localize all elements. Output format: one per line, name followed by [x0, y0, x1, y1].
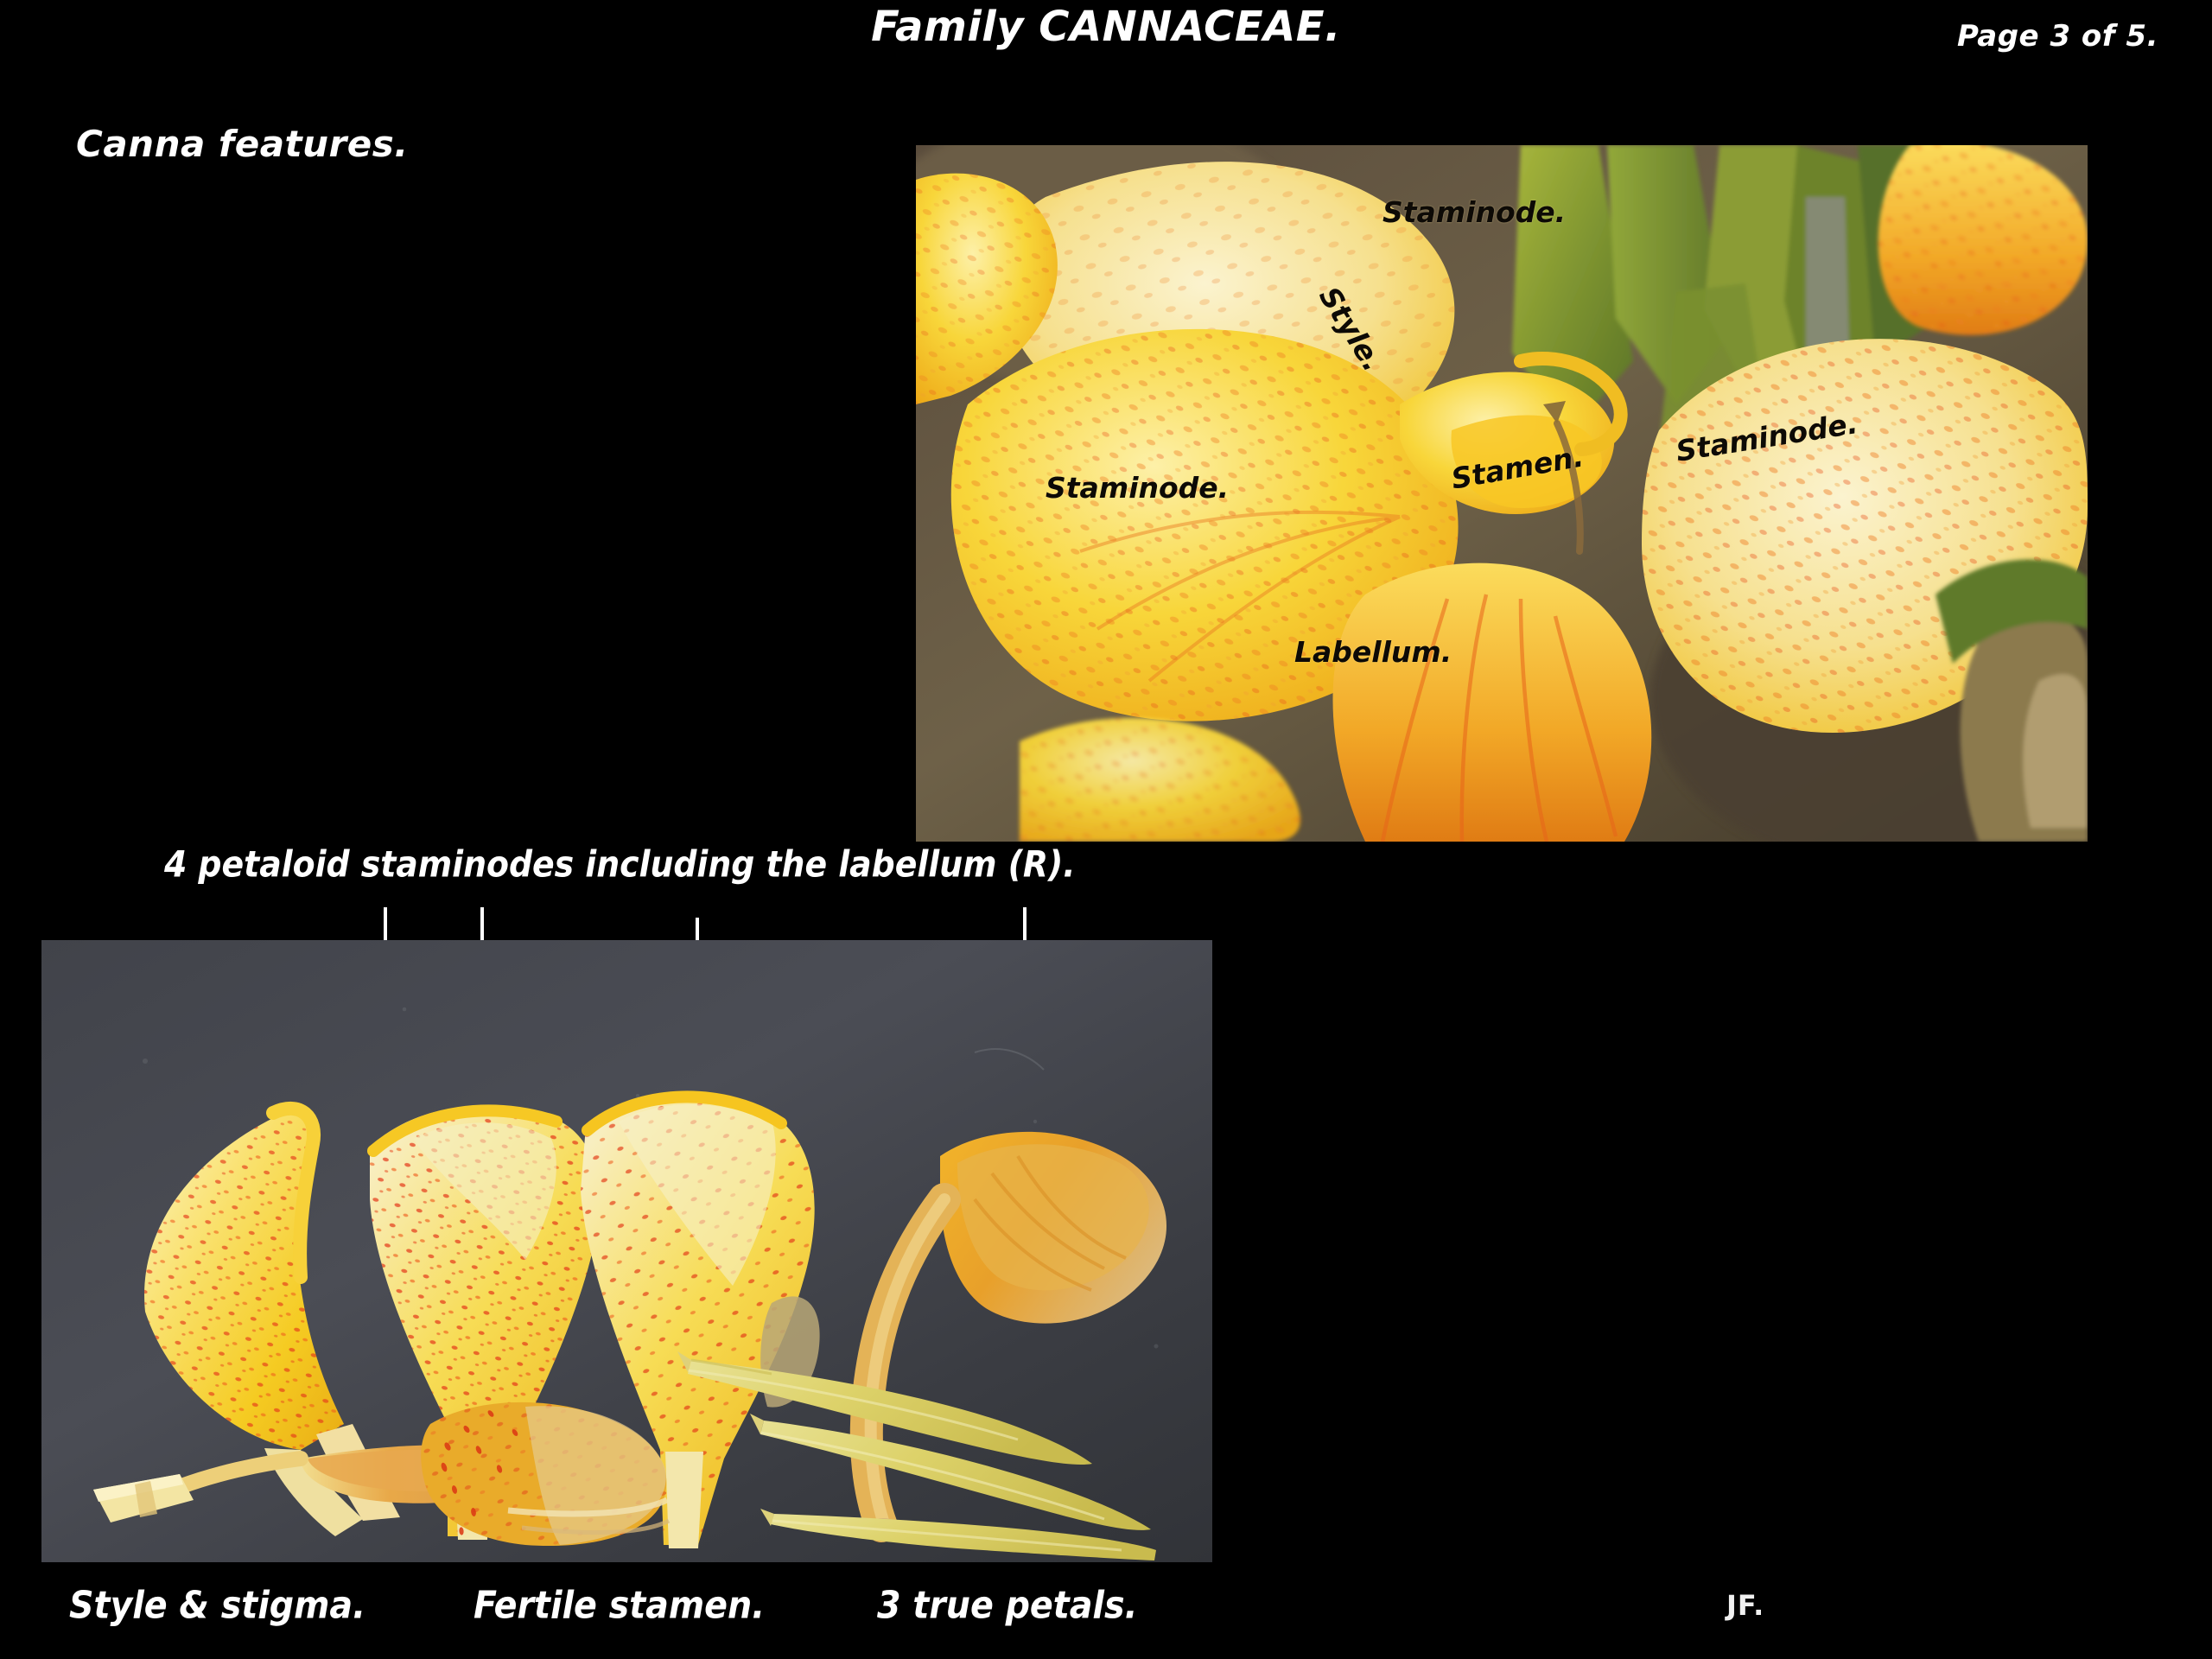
label-staminode-top: Staminode. — [1382, 195, 1566, 229]
page-number: Page 3 of 5. — [1957, 19, 2158, 54]
staminodes-caption: 4 petaloid staminodes including the labe… — [164, 843, 1076, 886]
page-title: Family CANNACEAE. — [0, 5, 2212, 48]
caption-true-petals: 3 true petals. — [877, 1584, 1138, 1628]
label-labellum: Labellum. — [1294, 635, 1452, 669]
slide-root: Family CANNACEAE. Page 3 of 5. Canna fea… — [0, 0, 2212, 1659]
dissected-parts-illustration — [41, 940, 1212, 1562]
caption-style-stigma: Style & stigma. — [69, 1584, 365, 1628]
author-signature: JF. — [1726, 1589, 1764, 1622]
caption-fertile-stamen: Fertile stamen. — [474, 1584, 765, 1628]
subtitle: Canna features. — [76, 123, 409, 165]
label-staminode-left: Staminode. — [1046, 471, 1229, 505]
bottom-photo — [41, 940, 1212, 1562]
